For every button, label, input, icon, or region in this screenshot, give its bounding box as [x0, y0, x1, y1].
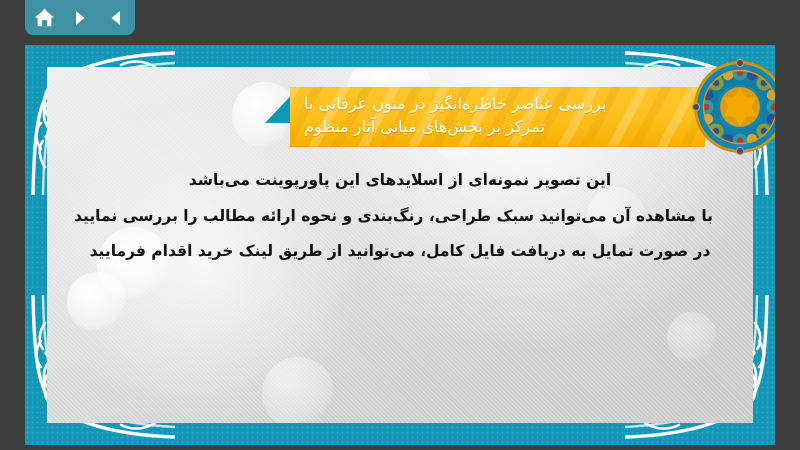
triangle-left-icon: [107, 9, 125, 27]
body-line: در صورت تمایل به دریافت فایل کامل، می‌تو…: [87, 234, 713, 270]
slide-viewer: این تصویر نمونه‌ای از اسلایدهای این پاور…: [0, 0, 800, 450]
bokeh-circle: [67, 272, 127, 332]
title-line: بررسی عناصر خاطره‌انگیز در متون عرفانی ب…: [304, 93, 606, 116]
home-icon: [34, 8, 55, 28]
persian-medallion-icon: [690, 57, 775, 157]
banner-body: بررسی عناصر خاطره‌انگیز در متون عرفانی ب…: [290, 87, 705, 147]
body-line: با مشاهده آن می‌توانید سبک طراحی، رنگ‌بن…: [87, 199, 713, 235]
triangle-right-icon: [71, 9, 89, 27]
slide-canvas: این تصویر نمونه‌ای از اسلایدهای این پاور…: [25, 45, 775, 445]
slide-body-text: این تصویر نمونه‌ای از اسلایدهای این پاور…: [47, 163, 753, 270]
next-slide-button[interactable]: [67, 5, 93, 31]
previous-slide-button[interactable]: [103, 5, 129, 31]
home-button[interactable]: [31, 5, 57, 31]
navigation-toolbar: [25, 0, 135, 35]
bokeh-circle: [262, 357, 334, 423]
title-banner: بررسی عناصر خاطره‌انگیز در متون عرفانی ب…: [265, 65, 705, 147]
bokeh-circle: [667, 312, 717, 362]
body-line: این تصویر نمونه‌ای از اسلایدهای این پاور…: [87, 163, 713, 199]
title-line: تمرکز بر بخش‌های میانی آثار منظوم: [304, 116, 545, 139]
